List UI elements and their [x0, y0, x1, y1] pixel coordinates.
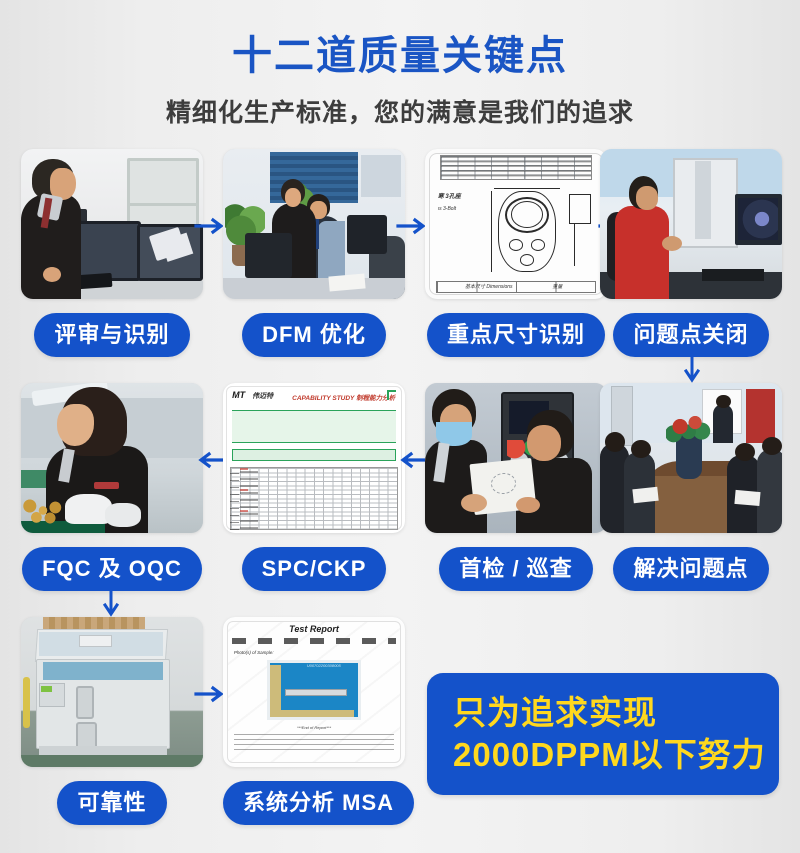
thumb-vision-measuring-machine — [600, 149, 782, 299]
flow-row-2: FQC 及 OQC MT 伟迈特 CAPABILITY STUDY 制程能力分析… — [0, 383, 800, 617]
page-header: 十二道质量关键点 精细化生产标准，您的满意是我们的追求 — [0, 0, 800, 129]
thumb-first-article-inspection — [425, 383, 607, 533]
flow-step-issue-closure[interactable]: 问题点关闭 — [600, 149, 782, 357]
step-label-spc-ckp[interactable]: SPC/CKP — [242, 547, 387, 591]
flow-step-msa[interactable]: Test Report Photo(s) of Sample: U0070220… — [223, 617, 405, 825]
thumb-team-meeting — [600, 383, 782, 533]
flow-step-review-and-identify[interactable]: 评审与识别 — [21, 149, 203, 357]
thumb-operator-inspecting-parts — [21, 383, 203, 533]
thumb-dfm-team-review — [223, 149, 405, 299]
slogan-line-2: 2000DPPM以下努力 — [453, 734, 779, 776]
spc-brand: MT — [232, 390, 245, 400]
drawing-footer-right: 重量 — [552, 283, 562, 290]
flow-step-problem-resolution[interactable]: 解决问题点 — [600, 383, 782, 591]
arrow-down-icon — [681, 354, 703, 384]
report-end-note: ***End of Report*** — [223, 725, 405, 730]
step-label-problem-resolution[interactable]: 解决问题点 — [613, 547, 768, 591]
flow-step-dfm-optimization[interactable]: DFM 优化 — [223, 149, 405, 357]
step-label-dfm-optimization[interactable]: DFM 优化 — [242, 313, 386, 357]
thumb-capability-study-sheet: MT 伟迈特 CAPABILITY STUDY 制程能力分析 — [223, 383, 405, 533]
step-label-review-and-identify[interactable]: 评审与识别 — [34, 313, 189, 357]
drawing-footer-left: 基本尺寸 Dimensions — [465, 283, 513, 290]
slogan-callout: 只为追求实现 2000DPPM以下努力 — [427, 673, 779, 795]
flow-step-key-dimension-identification[interactable]: 寒 3孔座 ıs 3-Bolt 基本尺寸 Dimensions 重量 重点尺寸识… — [425, 149, 607, 357]
step-label-issue-closure[interactable]: 问题点关闭 — [613, 313, 768, 357]
thumb-test-report: Test Report Photo(s) of Sample: U0070220… — [223, 617, 405, 767]
spc-brand-cn: 伟迈特 — [252, 391, 273, 401]
thumb-salt-spray-chamber — [21, 617, 203, 767]
arrow-down-icon — [100, 588, 122, 618]
flow-step-fqc-oqc[interactable]: FQC 及 OQC — [21, 383, 203, 591]
thumb-engineering-drawing: 寒 3孔座 ıs 3-Bolt 基本尺寸 Dimensions 重量 — [425, 149, 607, 299]
flow-row-1: 评审与识别 DFM 优化 — [0, 149, 800, 383]
drawing-subtitle: ıs 3-Bolt — [438, 206, 456, 212]
step-label-key-dimension-identification[interactable]: 重点尺寸识别 — [427, 313, 605, 357]
page-subtitle: 精细化生产标准，您的满意是我们的追求 — [0, 93, 800, 129]
page-title: 十二道质量关键点 — [0, 34, 800, 79]
report-photo-label: Photo(s) of Sample: — [234, 650, 274, 655]
step-label-msa[interactable]: 系统分析 MSA — [223, 781, 414, 825]
flow-step-reliability[interactable]: 可靠性 — [21, 617, 203, 825]
flow-step-first-article-patrol[interactable]: 首检 / 巡查 — [425, 383, 607, 591]
spc-title: CAPABILITY STUDY 制程能力分析 — [292, 392, 395, 402]
drawing-title: 寒 3孔座 — [438, 191, 461, 200]
thumb-engineer-dual-monitors — [21, 149, 203, 299]
step-label-reliability[interactable]: 可靠性 — [57, 781, 166, 825]
flow-step-spc-ckp[interactable]: MT 伟迈特 CAPABILITY STUDY 制程能力分析 SPC/CKP — [223, 383, 405, 591]
step-label-fqc-oqc[interactable]: FQC 及 OQC — [22, 547, 202, 591]
slogan-line-1: 只为追求实现 — [453, 692, 779, 734]
report-title: Test Report — [223, 624, 405, 634]
step-label-first-article-patrol[interactable]: 首检 / 巡查 — [439, 547, 592, 591]
